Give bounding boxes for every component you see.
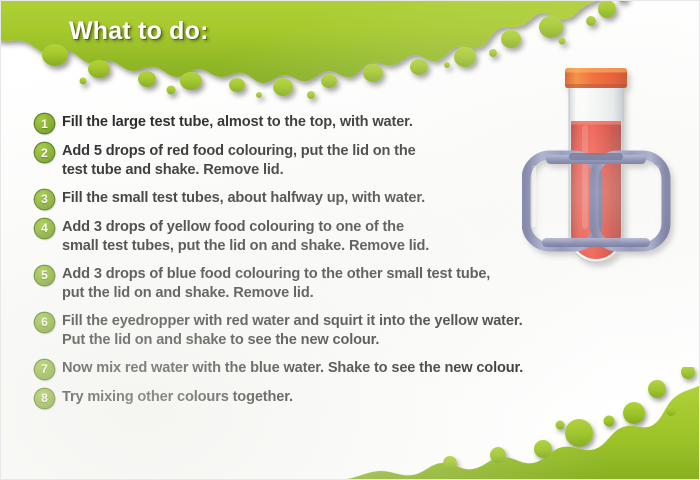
step-text-line: put the lid on and shake. Remove lid.	[62, 284, 490, 303]
step-number: 3	[41, 193, 48, 205]
step-text-line: Fill the small test tubes, about halfway…	[62, 189, 425, 208]
step-number-badge: 1	[35, 114, 54, 133]
step-number-badge: 8	[35, 389, 54, 408]
step-number-badge: 7	[35, 360, 54, 379]
step-text: Now mix red water with the blue water. S…	[62, 359, 523, 378]
step-number: 1	[41, 118, 48, 130]
step-number: 7	[41, 363, 48, 375]
step-text: Fill the large test tube, almost to the …	[62, 113, 413, 132]
step-number: 5	[41, 269, 48, 281]
step-text: Add 3 drops of blue food colouring to th…	[62, 265, 490, 303]
step-text: Add 3 drops of yellow food colouring to …	[62, 218, 429, 256]
step-number-badge: 6	[35, 313, 54, 332]
step-text-line: Try mixing other colours together.	[62, 388, 293, 407]
step-text-line: Add 3 drops of blue food colouring to th…	[62, 265, 490, 284]
step-text-line: Fill the large test tube, almost to the …	[62, 113, 413, 132]
step-number-badge: 2	[35, 143, 54, 162]
step-number: 6	[41, 316, 48, 328]
step-text: Fill the small test tubes, about halfway…	[62, 189, 425, 208]
step-text-line: Put the lid on and shake to see the new …	[62, 331, 522, 350]
step-item: 6 Fill the eyedropper with red water and…	[35, 312, 665, 350]
step-text-line: Now mix red water with the blue water. S…	[62, 359, 523, 378]
step-number-badge: 5	[35, 266, 54, 285]
step-number: 2	[41, 147, 48, 159]
step-text: Try mixing other colours together.	[62, 388, 293, 407]
step-text-line: test tube and shake. Remove lid.	[62, 161, 416, 180]
step-number-badge: 3	[35, 190, 54, 209]
page-title: What to do:	[69, 17, 209, 46]
step-text-line: Add 3 drops of yellow food colouring to …	[62, 218, 429, 237]
worksheet-page: What to do: 1 Fill the large test tube, …	[0, 0, 700, 480]
step-text-line: small test tubes, put the lid on and sha…	[62, 237, 429, 256]
step-number: 4	[41, 222, 48, 234]
step-text-line: Add 5 drops of red food colouring, put t…	[62, 142, 416, 161]
step-text-line: Fill the eyedropper with red water and s…	[62, 312, 522, 331]
step-text: Add 5 drops of red food colouring, put t…	[62, 142, 416, 180]
step-number: 8	[41, 392, 48, 404]
step-item: 8 Try mixing other colours together.	[35, 388, 665, 408]
step-text: Fill the eyedropper with red water and s…	[62, 312, 522, 350]
test-tube-illustration	[522, 59, 694, 297]
step-item: 7 Now mix red water with the blue water.…	[35, 359, 665, 379]
step-number-badge: 4	[35, 219, 54, 238]
